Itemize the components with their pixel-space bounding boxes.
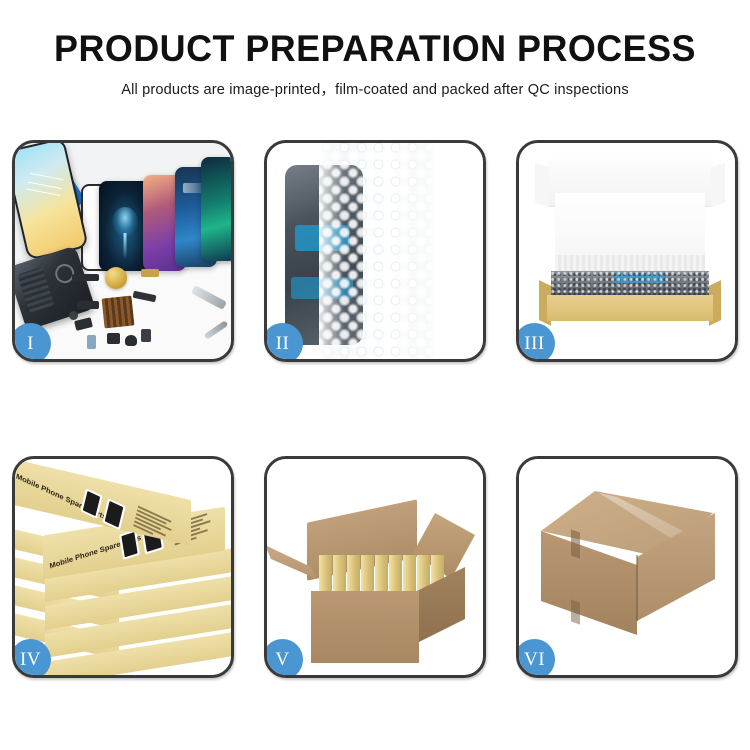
page-subtitle: All products are image-printed，film-coat… (0, 78, 750, 99)
speaker-part (125, 335, 137, 346)
box-front-panel (547, 295, 713, 321)
step-panel-5: V (264, 456, 486, 678)
step-badge-2: II (264, 323, 303, 362)
button-flex-part (77, 301, 99, 309)
step-photo-3 (519, 143, 735, 359)
step-panel-6: VI (516, 456, 738, 678)
plastic-gloss (319, 143, 437, 359)
carton-seam-upper (571, 529, 580, 558)
gold-contact-part (141, 269, 159, 277)
step-badge-6: VI (516, 639, 555, 678)
camera-module-part (107, 333, 120, 344)
step-panel-2: II (264, 140, 486, 362)
step-photo-4: Mobile Phone Spare Parts Mobile Phone Sp… (15, 459, 231, 675)
step-photo-2 (267, 143, 483, 359)
flex-cable-part (72, 274, 99, 281)
steps-grid: I II (12, 140, 738, 678)
step-panel-3: III (516, 140, 738, 362)
carton-vertical-edge (636, 555, 638, 621)
step-photo-5 (267, 459, 483, 675)
product-preparation-infographic: PRODUCT PREPARATION PROCESS All products… (0, 0, 750, 750)
step-photo-1 (15, 143, 231, 359)
step-badge-1: I (12, 323, 51, 362)
taptic-engine-part (141, 329, 151, 342)
speaker-coil-part (105, 267, 127, 289)
header: PRODUCT PREPARATION PROCESS All products… (0, 28, 750, 99)
step-panel-1: I (12, 140, 234, 362)
screw-part (69, 311, 78, 320)
phone-teal-screen (201, 157, 231, 261)
step-photo-6 (519, 459, 735, 675)
step-badge-3: III (516, 323, 555, 362)
carton-front-panel (311, 591, 419, 663)
connector-grid-part (102, 296, 135, 329)
page-title: PRODUCT PREPARATION PROCESS (11, 28, 739, 69)
sim-tray-part (87, 335, 96, 349)
packed-parts-texture (551, 271, 709, 297)
step-panel-4: Mobile Phone Spare Parts Mobile Phone Sp… (12, 456, 234, 678)
carton-seam-lower (571, 599, 580, 624)
step-badge-4: IV (12, 639, 51, 678)
step-badge-5: V (264, 639, 303, 678)
